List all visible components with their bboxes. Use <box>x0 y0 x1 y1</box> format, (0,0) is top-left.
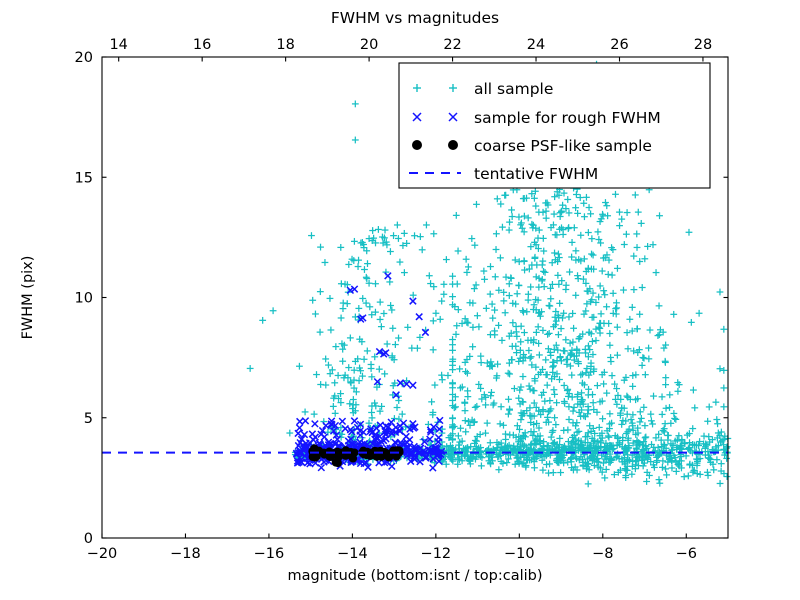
data-point-plus <box>506 407 513 414</box>
data-point-plus <box>543 215 550 222</box>
data-point-plus <box>472 404 479 411</box>
x-tick-label-top: 18 <box>276 37 294 53</box>
data-point-plus <box>656 212 663 219</box>
data-point-plus <box>616 222 623 229</box>
data-point-plus <box>566 210 573 217</box>
data-point-plus <box>588 251 595 258</box>
data-point-plus <box>509 319 516 326</box>
data-point-plus <box>597 283 604 290</box>
data-point-plus <box>464 269 471 276</box>
legend[interactable]: all samplesample for rough FWHMcoarse PS… <box>399 63 710 188</box>
data-point-plus <box>686 229 693 236</box>
data-point-plus <box>614 352 621 359</box>
data-point-plus <box>551 250 558 257</box>
data-point-plus <box>718 429 725 436</box>
data-point-plus <box>558 325 565 332</box>
data-point-plus <box>556 300 563 307</box>
data-point-plus <box>430 230 437 237</box>
data-point-plus <box>590 252 597 259</box>
data-point-plus <box>344 300 351 307</box>
data-point-plus <box>551 386 558 393</box>
data-point-plus <box>519 307 526 314</box>
data-point-plus <box>599 415 606 422</box>
data-point-plus <box>516 387 523 394</box>
data-point-plus <box>525 297 532 304</box>
data-point-plus <box>713 416 720 423</box>
data-point-plus <box>493 246 500 253</box>
data-point-plus <box>369 227 376 234</box>
data-point-plus <box>720 326 727 333</box>
data-point-plus <box>670 410 677 417</box>
data-point-plus <box>465 418 472 425</box>
data-point-plus <box>559 202 566 209</box>
data-point-plus <box>549 364 556 371</box>
data-point-plus <box>577 232 584 239</box>
data-point-plus <box>659 411 666 418</box>
data-point-plus <box>387 302 394 309</box>
data-point-plus <box>411 232 418 239</box>
data-point-plus <box>286 430 293 437</box>
data-point-plus <box>317 244 324 251</box>
data-point-plus <box>717 365 724 372</box>
data-point-plus <box>552 231 559 238</box>
data-point-plus <box>659 464 666 471</box>
data-point-plus <box>564 386 571 393</box>
y-tick-label: 10 <box>75 291 93 307</box>
data-point-plus <box>512 257 519 264</box>
data-point-plus <box>463 319 470 326</box>
data-point-plus <box>558 357 565 364</box>
data-point-plus <box>595 236 602 243</box>
data-point-plus <box>440 291 447 298</box>
data-point-plus <box>470 324 477 331</box>
data-point-dot <box>332 458 340 466</box>
data-point-plus <box>491 307 498 314</box>
data-point-plus <box>599 268 606 275</box>
data-point-plus <box>481 276 488 283</box>
data-point-plus <box>516 258 523 265</box>
data-point-plus <box>597 240 604 247</box>
data-point-plus <box>502 431 509 438</box>
data-point-plus <box>634 244 641 251</box>
data-point-plus <box>663 472 670 479</box>
data-point-plus <box>517 338 524 345</box>
y-tick-label: 0 <box>84 531 93 547</box>
data-point-plus <box>452 403 459 410</box>
data-point-plus <box>669 465 676 472</box>
data-point-plus <box>328 327 335 334</box>
data-point-plus <box>656 302 663 309</box>
data-point-plus <box>477 353 484 360</box>
data-point-plus <box>704 418 711 425</box>
data-point-plus <box>497 201 504 208</box>
data-point-plus <box>527 284 534 291</box>
data-point-plus <box>563 282 570 289</box>
data-point-plus <box>581 311 588 318</box>
data-point-plus <box>557 354 564 361</box>
data-point-plus <box>550 362 557 369</box>
chart-title: FWHM vs magnitudes <box>331 9 499 27</box>
data-point-plus <box>670 311 677 318</box>
data-point-plus <box>493 230 500 237</box>
data-point-plus <box>690 387 697 394</box>
data-point-plus <box>506 431 513 438</box>
data-point-plus <box>580 200 587 207</box>
x-tick-label-top: 14 <box>109 37 127 53</box>
data-point-plus <box>551 391 558 398</box>
data-point-plus <box>482 430 489 437</box>
data-point-cross <box>296 425 302 431</box>
data-point-plus <box>587 210 594 217</box>
data-point-plus <box>633 231 640 238</box>
data-point-plus <box>575 428 582 435</box>
data-point-plus <box>372 280 379 287</box>
data-point-plus <box>505 370 512 377</box>
data-point-plus <box>335 372 342 379</box>
data-point-plus <box>500 297 507 304</box>
legend-dot-icon <box>412 140 422 150</box>
data-point-plus <box>531 464 538 471</box>
data-point-plus <box>562 336 569 343</box>
data-point-plus <box>380 310 387 317</box>
data-point-plus <box>512 343 519 350</box>
data-point-plus <box>540 268 547 275</box>
data-point-plus <box>338 280 345 287</box>
data-point-plus <box>500 422 507 429</box>
data-point-plus <box>352 137 359 144</box>
data-point-plus <box>489 315 496 322</box>
data-point-plus <box>648 417 655 424</box>
data-point-plus <box>395 335 402 342</box>
data-point-plus <box>375 226 382 233</box>
data-point-plus <box>624 329 631 336</box>
data-point-plus <box>520 373 527 380</box>
data-point-plus <box>681 473 688 480</box>
data-point-plus <box>363 300 370 307</box>
data-point-plus <box>675 432 682 439</box>
data-point-plus <box>516 214 523 221</box>
data-point-plus <box>572 292 579 299</box>
data-point-plus <box>528 353 535 360</box>
data-point-plus <box>637 419 644 426</box>
data-point-plus <box>352 100 359 107</box>
data-point-plus <box>663 405 670 412</box>
data-point-plus <box>586 204 593 211</box>
data-point-plus <box>638 415 645 422</box>
data-point-cross <box>406 437 412 443</box>
data-point-plus <box>557 209 564 216</box>
data-point-plus <box>606 330 613 337</box>
data-point-plus <box>613 401 620 408</box>
data-point-plus <box>345 261 352 268</box>
data-point-plus <box>618 421 625 428</box>
data-point-plus <box>631 286 638 293</box>
data-point-plus <box>604 212 611 219</box>
data-point-plus <box>443 256 450 263</box>
data-point-plus <box>613 305 620 312</box>
data-point-plus <box>499 337 506 344</box>
data-point-plus <box>433 310 440 317</box>
data-point-plus <box>618 216 625 223</box>
data-point-plus <box>537 313 544 320</box>
data-point-plus <box>364 260 371 267</box>
data-point-plus <box>384 341 391 348</box>
data-point-plus <box>302 409 309 416</box>
data-point-plus <box>623 393 630 400</box>
data-point-plus <box>464 387 471 394</box>
data-point-plus <box>366 420 373 427</box>
data-point-plus <box>566 314 573 321</box>
data-point-plus <box>720 367 727 374</box>
data-point-plus <box>327 295 334 302</box>
data-point-dot <box>366 451 374 459</box>
data-point-plus <box>540 327 547 334</box>
x-tick-label-top: 22 <box>443 37 461 53</box>
data-point-plus <box>414 345 421 352</box>
data-point-plus <box>487 439 494 446</box>
data-point-plus <box>662 342 669 349</box>
data-point-plus <box>322 259 329 266</box>
data-point-plus <box>664 432 671 439</box>
data-point-plus <box>541 398 548 405</box>
data-point-plus <box>449 293 456 300</box>
data-point-plus <box>382 227 389 234</box>
data-point-plus <box>643 478 650 485</box>
data-point-cross <box>342 425 348 431</box>
data-point-plus <box>332 343 339 350</box>
data-point-plus <box>603 202 610 209</box>
data-point-plus <box>626 316 633 323</box>
data-point-plus <box>632 371 639 378</box>
data-point-plus <box>461 400 468 407</box>
data-point-plus <box>560 231 567 238</box>
data-point-plus <box>714 456 721 463</box>
data-point-plus <box>582 308 589 315</box>
data-point-plus <box>247 365 254 372</box>
data-point-plus <box>556 435 563 442</box>
data-point-plus <box>685 473 692 480</box>
data-point-plus <box>718 460 725 467</box>
data-point-plus <box>525 347 532 354</box>
data-point-plus <box>662 359 669 366</box>
data-point-plus <box>706 404 713 411</box>
data-point-plus <box>498 403 505 410</box>
x-tick-label-top: 24 <box>527 37 545 53</box>
data-point-plus <box>583 194 590 201</box>
data-point-dot <box>388 450 396 458</box>
data-point-plus <box>361 356 368 363</box>
data-point-plus <box>605 271 612 278</box>
x-axis-label: magnitude (bottom:isnt / top:calib) <box>287 568 542 584</box>
data-point-plus <box>430 317 437 324</box>
data-point-plus <box>601 291 608 298</box>
data-point-plus <box>473 201 480 208</box>
data-point-plus <box>449 273 456 280</box>
data-point-plus <box>474 312 481 319</box>
data-point-plus <box>558 209 565 216</box>
data-point-plus <box>312 311 319 318</box>
data-point-plus <box>585 229 592 236</box>
data-point-plus <box>544 331 551 338</box>
data-point-plus <box>563 356 570 363</box>
data-point-plus <box>609 372 616 379</box>
data-point-plus <box>671 415 678 422</box>
data-point-plus <box>535 284 542 291</box>
data-point-plus <box>602 199 609 206</box>
x-tick-label-bottom: −18 <box>170 546 201 562</box>
data-point-plus <box>701 433 708 440</box>
y-axis-label: FWHM (pix) <box>20 256 36 340</box>
data-point-plus <box>590 314 597 321</box>
data-point-plus <box>666 391 673 398</box>
scatter-plot: −20−18−16−14−12−10−8−6141618202224262805… <box>0 0 800 600</box>
data-point-plus <box>445 372 452 379</box>
data-point-plus <box>449 380 456 387</box>
data-point-plus <box>610 290 617 297</box>
data-point-plus <box>594 382 601 389</box>
data-point-plus <box>428 398 435 405</box>
data-point-plus <box>521 329 528 336</box>
data-point-plus <box>338 315 345 322</box>
data-point-plus <box>662 381 669 388</box>
data-point-plus <box>696 310 703 317</box>
data-point-plus <box>381 370 388 377</box>
data-point-plus <box>542 356 549 363</box>
data-point-plus <box>659 393 666 400</box>
data-point-plus <box>521 267 528 274</box>
data-point-plus <box>463 256 470 263</box>
data-point-plus <box>451 423 458 430</box>
data-point-plus <box>539 276 546 283</box>
data-point-plus <box>553 399 560 406</box>
data-point-plus <box>441 281 448 288</box>
data-point-plus <box>675 388 682 395</box>
data-point-plus <box>714 420 721 427</box>
data-point-plus <box>585 342 592 349</box>
data-point-plus <box>605 320 612 327</box>
data-point-plus <box>487 358 494 365</box>
data-point-plus <box>332 410 339 417</box>
data-point-plus <box>642 434 649 441</box>
data-point-plus <box>661 345 668 352</box>
data-point-plus <box>637 408 644 415</box>
data-point-plus <box>582 346 589 353</box>
data-point-plus <box>647 411 654 418</box>
data-point-plus <box>585 386 592 393</box>
data-point-cross <box>410 298 416 304</box>
data-point-plus <box>568 254 575 261</box>
data-point-plus <box>572 247 579 254</box>
data-point-plus <box>465 264 472 271</box>
data-point-plus <box>555 251 562 258</box>
data-point-cross <box>309 431 315 437</box>
data-point-plus <box>427 280 434 287</box>
data-point-plus <box>468 235 475 242</box>
data-point-plus <box>317 329 324 336</box>
data-point-plus <box>639 284 646 291</box>
data-point-plus <box>589 338 596 345</box>
data-point-plus <box>528 221 535 228</box>
data-point-plus <box>691 404 698 411</box>
x-tick-label-bottom: −16 <box>254 546 285 562</box>
data-point-cross <box>410 382 416 388</box>
data-point-plus <box>487 291 494 298</box>
data-point-cross <box>339 418 345 424</box>
data-point-plus <box>389 392 396 399</box>
data-point-plus <box>377 299 384 306</box>
data-point-plus <box>705 472 712 479</box>
data-point-plus <box>378 403 385 410</box>
legend-label: all sample <box>474 80 553 98</box>
data-point-plus <box>454 281 461 288</box>
data-point-plus <box>635 209 642 216</box>
data-point-plus <box>628 471 635 478</box>
data-point-plus <box>581 213 588 220</box>
data-point-plus <box>469 343 476 350</box>
data-point-plus <box>544 414 551 421</box>
data-point-plus <box>570 408 577 415</box>
data-point-plus <box>606 434 613 441</box>
data-point-plus <box>376 366 383 373</box>
data-point-plus <box>478 462 485 469</box>
data-point-plus <box>535 340 542 347</box>
data-point-plus <box>659 457 666 464</box>
data-point-plus <box>571 404 578 411</box>
data-point-plus <box>430 283 437 290</box>
data-point-plus <box>473 282 480 289</box>
data-point-plus <box>621 241 628 248</box>
x-tick-label-top: 28 <box>694 37 712 53</box>
data-point-plus <box>630 253 637 260</box>
data-point-plus <box>515 395 522 402</box>
data-point-plus <box>401 269 408 276</box>
data-point-plus <box>499 224 506 231</box>
data-point-cross <box>435 434 441 440</box>
data-point-plus <box>650 241 657 248</box>
data-point-plus <box>542 269 549 276</box>
data-point-plus <box>600 287 607 294</box>
data-point-plus <box>488 389 495 396</box>
data-point-plus <box>355 305 362 312</box>
data-point-plus <box>462 407 469 414</box>
data-point-plus <box>482 401 489 408</box>
data-point-dot <box>349 454 357 462</box>
data-point-plus <box>516 282 523 289</box>
data-point-plus <box>623 231 630 238</box>
data-point-plus <box>455 248 462 255</box>
data-point-plus <box>471 242 478 249</box>
x-tick-label-bottom: −10 <box>504 546 535 562</box>
data-point-plus <box>401 230 408 237</box>
data-point-plus <box>514 290 521 297</box>
data-point-plus <box>438 298 445 305</box>
data-point-plus <box>717 289 724 296</box>
data-point-plus <box>573 191 580 198</box>
data-point-plus <box>567 363 574 370</box>
data-point-plus <box>437 316 444 323</box>
data-point-plus <box>355 263 362 270</box>
data-point-plus <box>666 404 673 411</box>
data-point-plus <box>389 325 396 332</box>
data-point-dot <box>309 453 317 461</box>
data-point-plus <box>489 301 496 308</box>
data-point-plus <box>394 222 401 229</box>
data-point-cross <box>416 314 422 320</box>
data-point-plus <box>552 421 559 428</box>
data-point-plus <box>495 466 502 473</box>
data-point-plus <box>620 287 627 294</box>
data-point-plus <box>614 265 621 272</box>
